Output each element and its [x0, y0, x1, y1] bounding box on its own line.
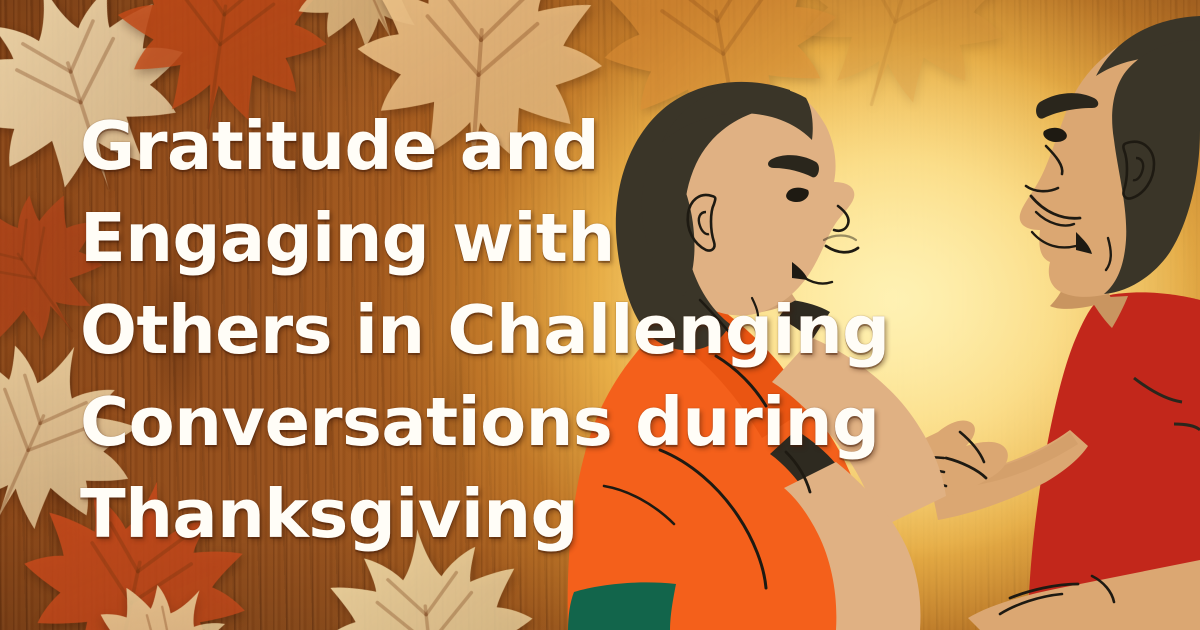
page-title-line-5: Thanksgiving — [80, 468, 870, 560]
man-figure — [874, 16, 1200, 630]
page-title-line-4: Conversations during — [80, 376, 870, 468]
thanksgiving-hero-banner: Gratitude andEngaging withOthers in Chal… — [0, 0, 1200, 630]
page-title-line-2: Engaging with — [80, 192, 870, 284]
page-title-line-3: Others in Challenging — [80, 284, 870, 376]
page-title-line-1: Gratitude and — [80, 100, 870, 192]
page-title: Gratitude andEngaging withOthers in Chal… — [80, 100, 870, 560]
